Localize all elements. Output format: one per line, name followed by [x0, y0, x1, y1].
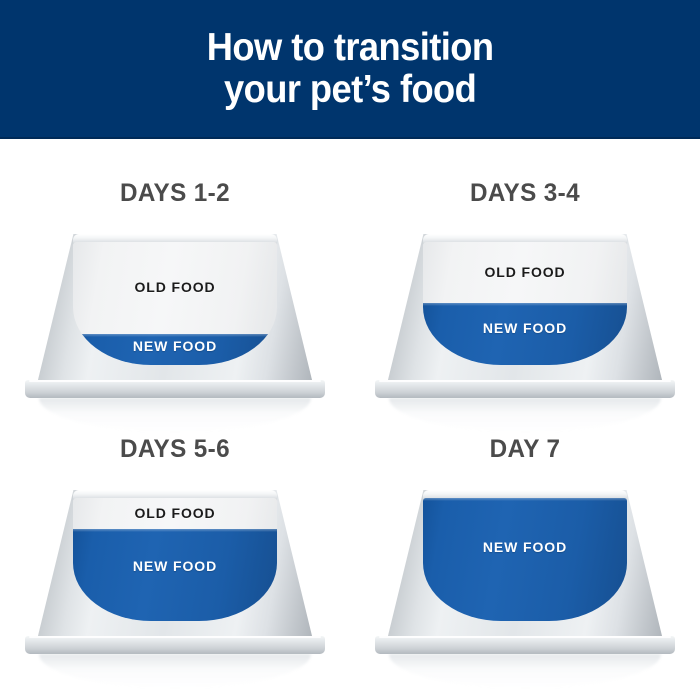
bowl-contents-2: OLD FOOD NEW FOOD: [73, 498, 277, 621]
bowl-contents-1: OLD FOOD NEW FOOD: [423, 242, 627, 365]
food-bowl-1: OLD FOOD NEW FOOD: [375, 234, 675, 409]
transition-step-3: DAY 7 OLD FOOD NEW FOOD: [350, 435, 700, 697]
bowl-foot-1: [375, 380, 675, 398]
transition-step-1: DAYS 3-4 OLD FOOD NEW FOOD: [350, 179, 700, 441]
new-food-layer-2: [73, 529, 277, 621]
transition-step-2: DAYS 5-6 OLD FOOD NEW FOOD: [0, 435, 350, 697]
bowl-reflection-1: [389, 398, 661, 432]
page-title: How to transition your pet’s food: [207, 27, 494, 110]
step-title-0: DAYS 1-2: [5, 179, 345, 208]
food-bowl-0: OLD FOOD NEW FOOD: [25, 234, 325, 409]
bowl-contents-3: OLD FOOD NEW FOOD: [423, 498, 627, 621]
old-food-label-1: OLD FOOD: [423, 264, 627, 280]
bowl-reflection-3: [389, 654, 661, 688]
new-food-layer-3: [423, 498, 627, 621]
new-food-label-0: NEW FOOD: [73, 338, 277, 354]
bowl-foot-2: [25, 636, 325, 654]
new-food-label-2: NEW FOOD: [73, 558, 277, 574]
food-bowl-2: OLD FOOD NEW FOOD: [25, 490, 325, 665]
transition-steps-grid: DAYS 1-2 OLD FOOD NEW FOOD DAYS 3-4 OLD …: [0, 139, 700, 700]
old-food-label-2: OLD FOOD: [73, 505, 277, 521]
new-food-label-3: NEW FOOD: [423, 539, 627, 555]
bowl-contents-0: OLD FOOD NEW FOOD: [73, 242, 277, 365]
transition-step-0: DAYS 1-2 OLD FOOD NEW FOOD: [0, 179, 350, 441]
bowl-reflection-2: [39, 654, 311, 688]
step-title-3: DAY 7: [355, 435, 695, 464]
bowl-foot-3: [375, 636, 675, 654]
step-title-2: DAYS 5-6: [5, 435, 345, 464]
new-food-label-1: NEW FOOD: [423, 320, 627, 336]
bowl-foot-0: [25, 380, 325, 398]
food-bowl-3: OLD FOOD NEW FOOD: [375, 490, 675, 665]
old-food-label-0: OLD FOOD: [73, 279, 277, 295]
step-title-1: DAYS 3-4: [355, 179, 695, 208]
page-header: How to transition your pet’s food: [0, 0, 700, 139]
bowl-reflection-0: [39, 398, 311, 432]
